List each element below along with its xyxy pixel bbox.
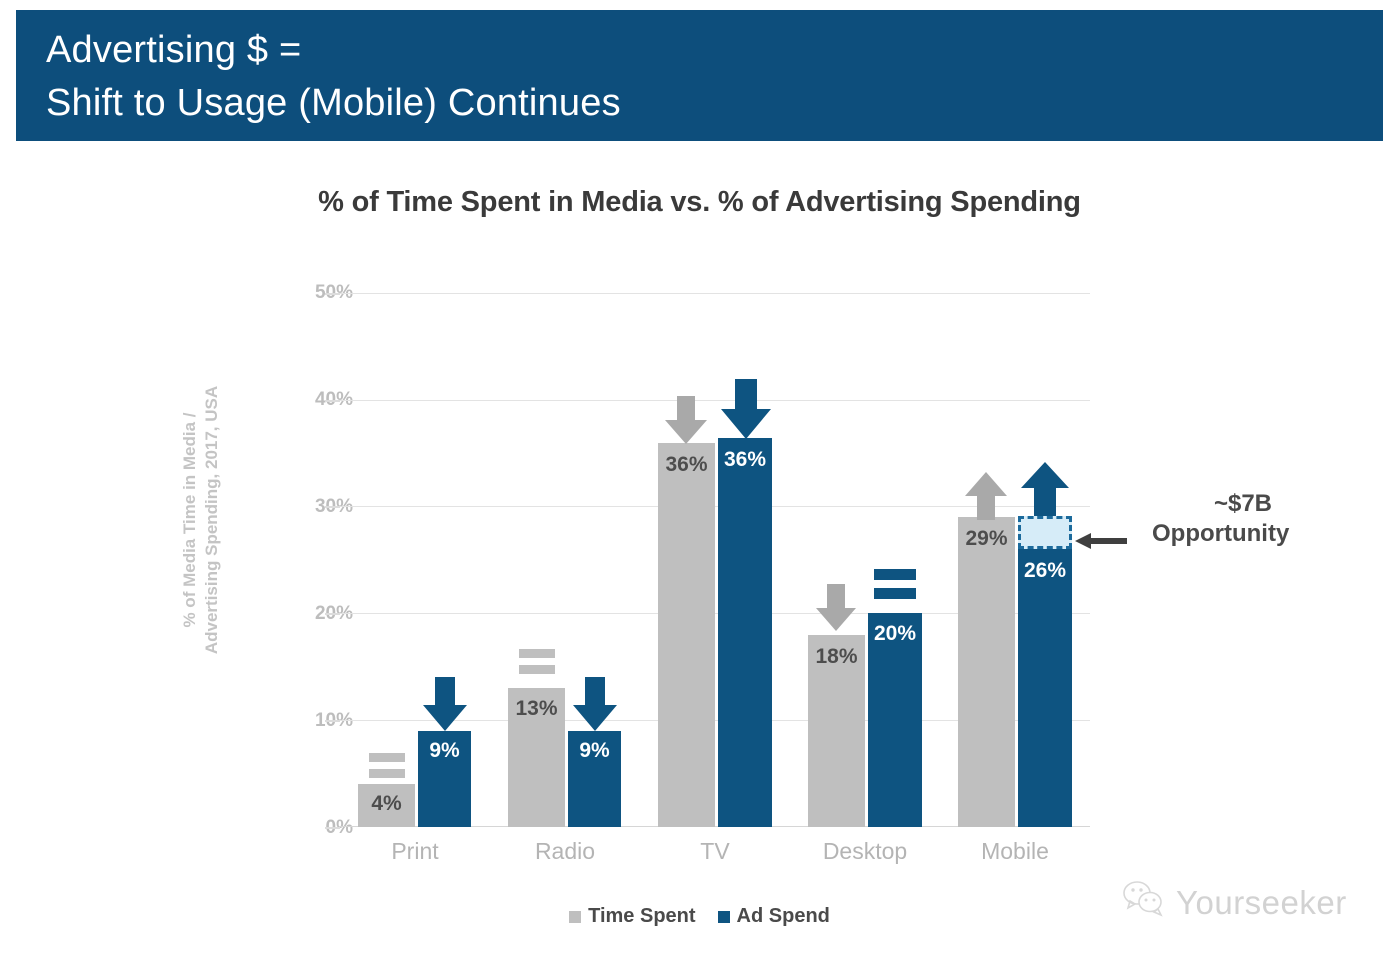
down-arrow-icon-radio-ad-spend xyxy=(570,675,620,733)
equals-icon-desktop-ad-spend xyxy=(870,560,920,610)
annotation-amount: ~$7B xyxy=(1104,489,1354,519)
bar-label-radio-time-spent: 13% xyxy=(508,697,565,721)
y-axis-title: % of Media Time in Media / Advertising S… xyxy=(179,330,235,710)
bar-label-desktop-ad-spend: 20% xyxy=(868,622,922,646)
legend-swatch-time-spent xyxy=(569,911,581,923)
bar-desktop-time-spent: 18% xyxy=(808,635,865,827)
bar-label-radio-ad-spend: 9% xyxy=(568,739,621,763)
y-tick-dash-30 xyxy=(325,506,340,508)
bar-label-mobile-time-spent: 29% xyxy=(958,527,1015,551)
bar-label-mobile-ad-spend: 26% xyxy=(1018,559,1072,583)
down-arrow-icon-tv-time-spent xyxy=(662,394,710,446)
x-axis-label-print: Print xyxy=(340,838,490,865)
y-tick-dash-0 xyxy=(325,827,340,829)
bar-print-ad-spend: 9% xyxy=(418,731,471,827)
up-arrow-icon-mobile-time-spent xyxy=(962,470,1010,522)
bar-radio-time-spent: 13% xyxy=(508,688,565,827)
bar-mobile-time-spent: 29% xyxy=(958,517,1015,827)
y-tick-dash-50 xyxy=(325,293,340,295)
down-arrow-icon-tv-ad-spend xyxy=(718,377,774,441)
bar-label-tv-time-spent: 36% xyxy=(658,453,715,477)
equals-icon-radio-time-spent xyxy=(513,635,561,687)
opportunity-annotation: ~$7B Opportunity xyxy=(1104,489,1354,549)
plot-area: 4% 9% 13% 9% 36% 36% 18% 20% xyxy=(340,293,1090,827)
annotation-label: Opportunity xyxy=(1104,519,1354,549)
bar-label-tv-ad-spend: 36% xyxy=(718,448,772,472)
gridline-40 xyxy=(340,400,1090,401)
y-tick-dash-10 xyxy=(325,720,340,722)
bar-tv-time-spent: 36% xyxy=(658,443,715,827)
legend-item-time-spent[interactable]: Time Spent xyxy=(569,905,695,928)
down-arrow-icon-print-ad-spend xyxy=(420,675,470,733)
x-axis-label-desktop: Desktop xyxy=(790,838,940,865)
left-arrow-icon xyxy=(1075,532,1127,550)
wechat-icon xyxy=(1122,880,1166,926)
bar-desktop-ad-spend: 20% xyxy=(868,613,922,827)
y-tick-dash-40 xyxy=(325,400,340,402)
x-axis-label-tv: TV xyxy=(640,838,790,865)
legend-label-time-spent: Time Spent xyxy=(588,905,695,928)
header-title-line-2: Shift to Usage (Mobile) Continues xyxy=(46,77,1383,130)
x-axis-label-mobile: Mobile xyxy=(940,838,1090,865)
legend-label-ad-spend: Ad Spend xyxy=(737,905,830,928)
gridline-50 xyxy=(340,293,1090,294)
bar-label-desktop-time-spent: 18% xyxy=(808,645,865,669)
header-banner: Advertising $ = Shift to Usage (Mobile) … xyxy=(16,10,1383,141)
bar-tv-ad-spend: 36% xyxy=(718,438,772,827)
bar-radio-ad-spend: 9% xyxy=(568,731,621,827)
bar-mobile-ad-spend: 26% xyxy=(1018,549,1072,827)
x-axis-label-radio: Radio xyxy=(490,838,640,865)
y-axis-title-line-1: % of Media Time in Media / xyxy=(179,330,201,710)
bar-label-print-ad-spend: 9% xyxy=(418,739,471,763)
header-title-line-1: Advertising $ = xyxy=(46,24,1383,77)
watermark: Yourseeker xyxy=(1122,880,1347,926)
bar-label-print-time-spent: 4% xyxy=(358,792,415,816)
legend-swatch-ad-spend xyxy=(718,911,730,923)
legend-item-ad-spend[interactable]: Ad Spend xyxy=(718,905,830,928)
chart-title: % of Time Spent in Media vs. % of Advert… xyxy=(0,186,1399,219)
up-arrow-icon-mobile-ad-spend xyxy=(1018,460,1072,518)
y-tick-dash-20 xyxy=(325,613,340,615)
y-axis-title-line-2: Advertising Spending, 2017, USA xyxy=(201,330,223,710)
equals-icon-print-time-spent xyxy=(363,739,411,791)
watermark-text: Yourseeker xyxy=(1176,884,1347,922)
down-arrow-icon-desktop-time-spent xyxy=(813,583,859,633)
opportunity-dashed-box xyxy=(1018,516,1072,549)
